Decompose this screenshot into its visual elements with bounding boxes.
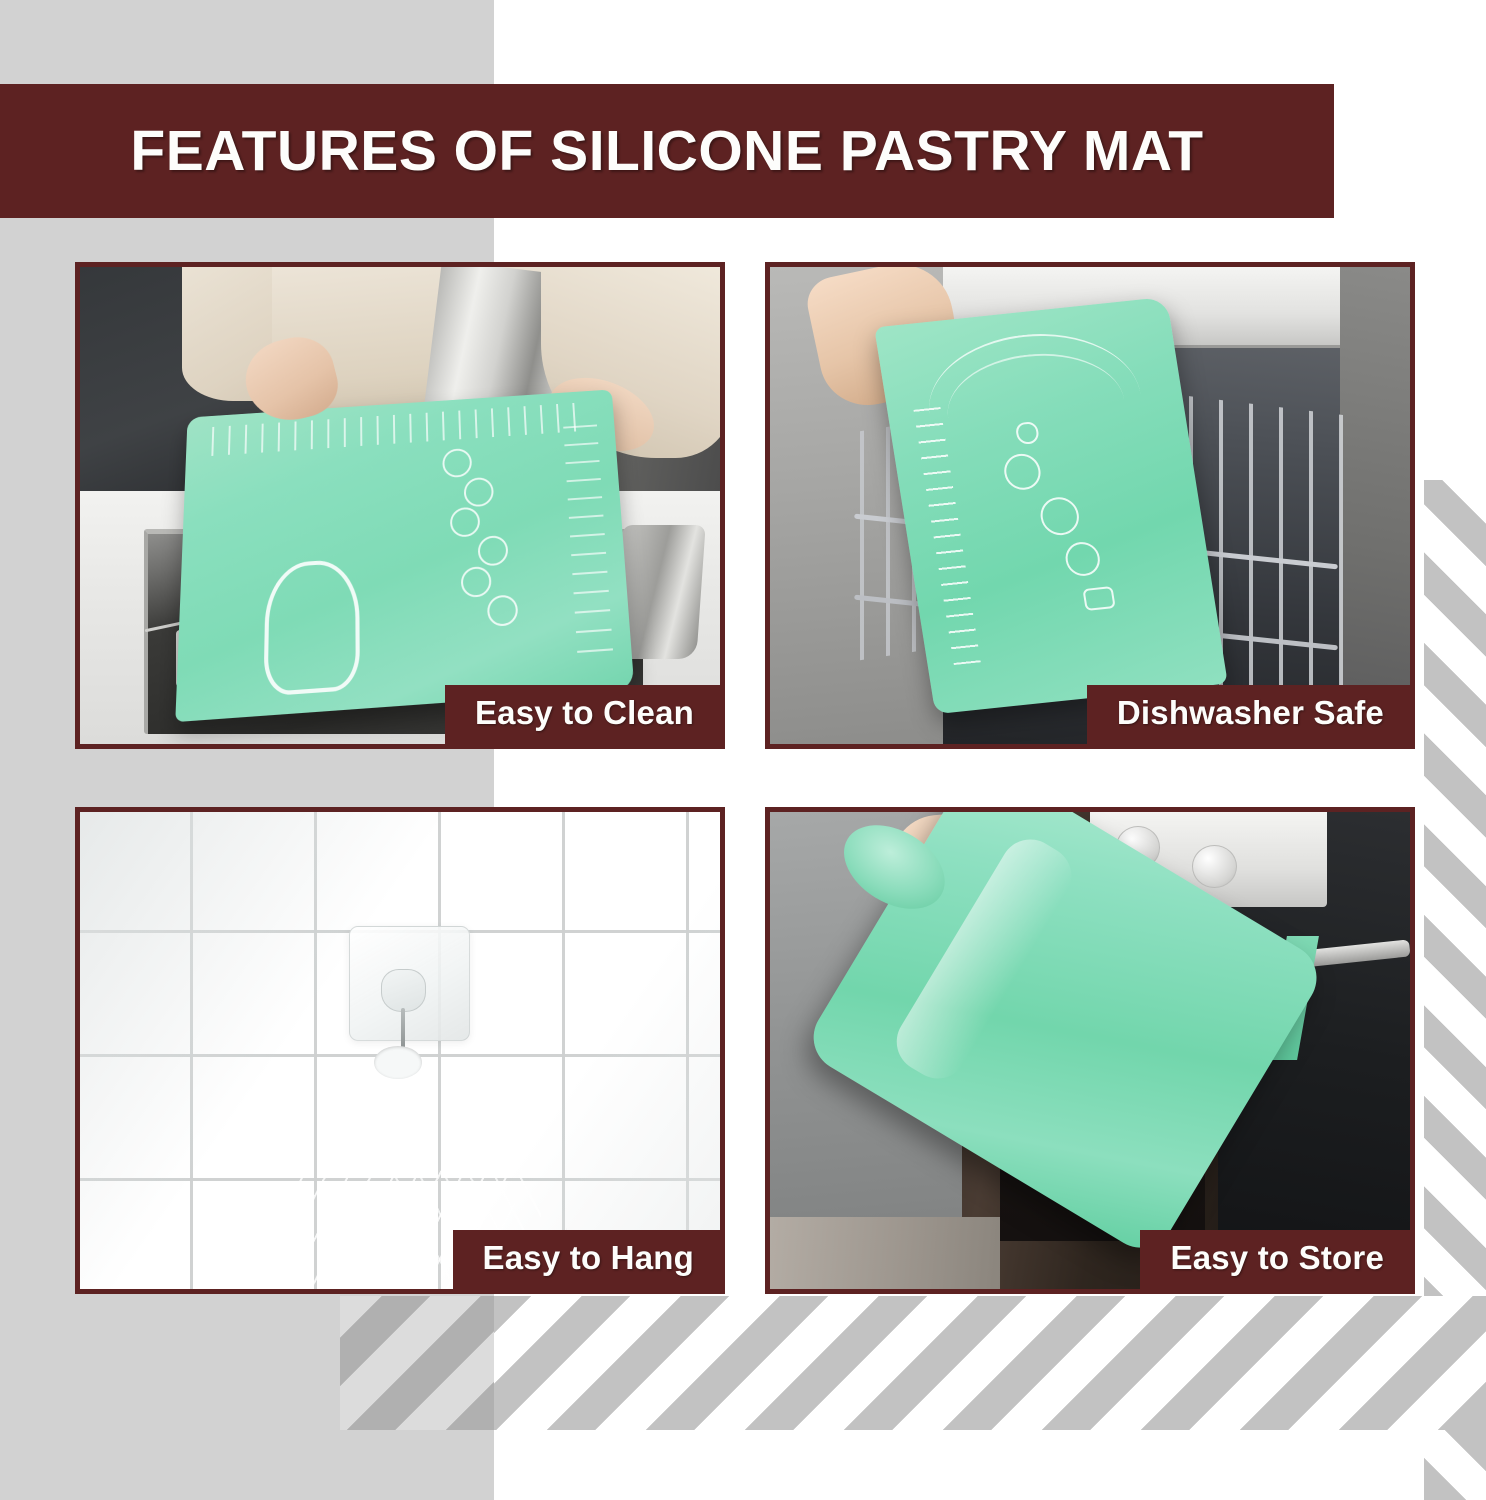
feature-grid: Easy to Clean Dishwasher Sa xyxy=(75,262,1415,1294)
mat-ruler-markings xyxy=(914,407,981,665)
photo-dishwasher-safe xyxy=(770,267,1410,744)
photo-easy-to-hang xyxy=(80,812,720,1289)
kitchen-floor xyxy=(770,1217,1000,1289)
caption-dishwasher-safe: Dishwasher Safe xyxy=(1087,685,1410,744)
caption-easy-to-clean: Easy to Clean xyxy=(445,685,720,744)
hook-wire xyxy=(401,1008,405,1051)
bottom-stripes-overlap xyxy=(340,1296,494,1430)
feature-card-dishwasher-safe[interactable]: Dishwasher Safe xyxy=(765,262,1415,749)
mat-icon-circle xyxy=(442,448,472,478)
mat-icon-cookie xyxy=(1002,452,1043,491)
page-title: FEATURES OF SILICONE PASTRY MAT xyxy=(130,118,1203,184)
silicone-pastry-mat xyxy=(875,297,1229,715)
mat-measurement-icons xyxy=(401,439,558,648)
feature-card-easy-to-store[interactable]: Easy to Store xyxy=(765,807,1415,1294)
caption-easy-to-hang: Easy to Hang xyxy=(453,1230,720,1289)
mat-icon-circle xyxy=(464,477,495,508)
photo-easy-to-clean xyxy=(80,267,720,744)
cabinet-wall-right xyxy=(1340,267,1410,744)
mat-icon-bread xyxy=(374,1232,432,1275)
mat-icon-circle xyxy=(461,565,492,597)
mat-icon-circle xyxy=(488,594,520,627)
silicone-pastry-mat xyxy=(176,389,635,722)
mat-icon-bread xyxy=(1083,586,1116,611)
mat-icon-circle xyxy=(450,507,481,538)
mat-icon-pie xyxy=(1039,495,1083,537)
mat-pastry-bag-graphic xyxy=(264,558,360,697)
hook-knob xyxy=(381,969,426,1012)
mat-icon-droplet xyxy=(1015,421,1040,445)
mat-icon-circle xyxy=(478,534,509,566)
mat-icon-donut xyxy=(1064,540,1103,577)
caption-easy-to-store: Easy to Store xyxy=(1140,1230,1410,1289)
title-banner: FEATURES OF SILICONE PASTRY MAT xyxy=(0,84,1334,218)
photo-easy-to-store xyxy=(770,812,1410,1289)
feature-card-easy-to-clean[interactable]: Easy to Clean xyxy=(75,262,725,749)
bottom-diagonal-stripes xyxy=(340,1296,1486,1430)
feature-card-easy-to-hang[interactable]: Easy to Hang xyxy=(75,807,725,1294)
